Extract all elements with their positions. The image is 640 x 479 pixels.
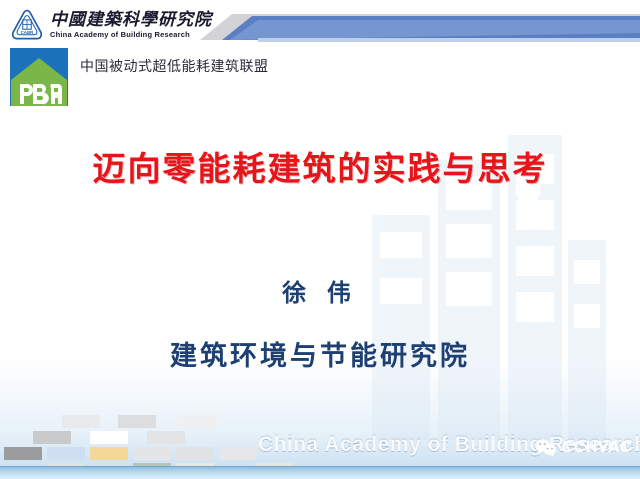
decorative-block-mosaic [0,407,270,467]
presenter-name: 徐 伟 [0,273,640,308]
presentation-slide: CABR 中國建築科學研究院 China Academy of Building… [0,0,640,479]
alliance-name: 中国被动式超低能耗建筑联盟 [80,56,269,76]
bottom-strip [0,466,640,479]
mosaic-block [62,415,100,428]
mosaic-block [147,431,185,444]
mosaic-block [90,447,128,460]
mosaic-block [219,447,257,460]
mosaic-block [90,431,128,444]
mosaic-block [177,415,217,428]
mosaic-block [47,447,85,460]
wechat-icon [535,438,557,457]
mosaic-block [33,431,71,444]
wechat-account-badge[interactable]: CCHVAC [535,438,632,457]
slide-title: 迈向零能耗建筑的实践与思考 [0,142,640,190]
mosaic-block [4,447,42,460]
mosaic-block [133,447,171,460]
presenter-affiliation: 建筑环境与节能研究院 [0,334,640,373]
cabr-triangle-logo-icon: CABR [10,8,44,42]
svg-text:CABR: CABR [21,30,35,35]
cabr-header: CABR 中國建築科學研究院 China Academy of Building… [10,8,212,42]
pba-house-logo-icon [10,48,68,106]
wechat-account-label: CCHVAC [562,439,632,457]
mosaic-block [176,447,214,460]
alliance-header: 中国被动式超低能耗建筑联盟 [10,48,269,106]
mosaic-block [118,415,156,428]
cabr-name-en: China Academy of Building Research [50,31,212,39]
cabr-name-cn: 中國建築科學研究院 [50,11,212,28]
